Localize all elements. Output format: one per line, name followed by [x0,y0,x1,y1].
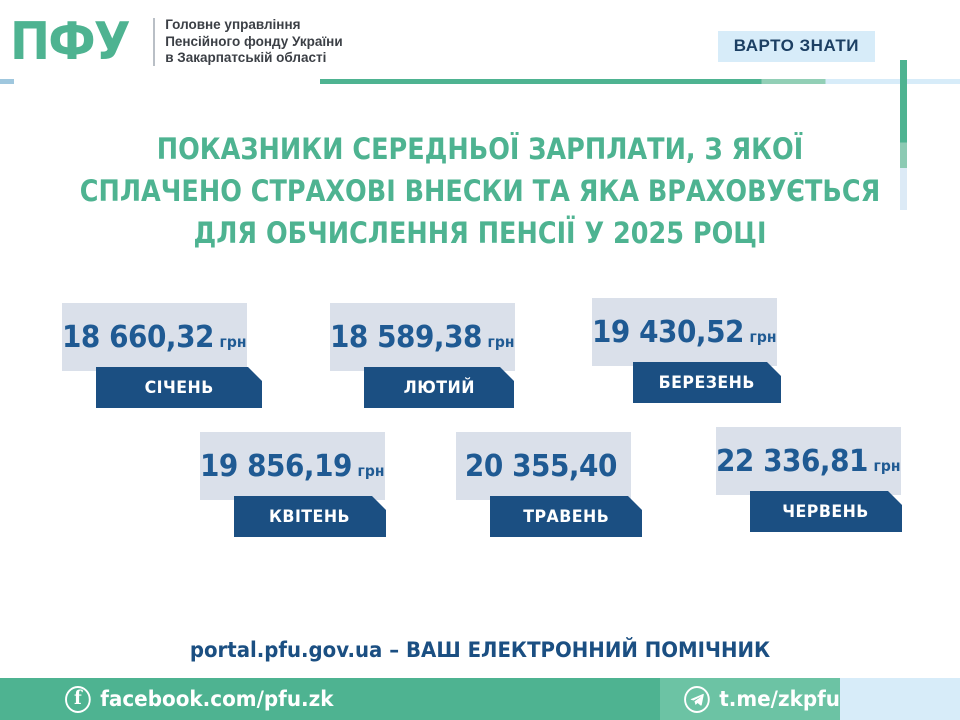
value-amount: 22 336,81 [716,444,868,479]
telegram-icon [684,686,710,713]
portal-tagline: portal.pfu.gov.ua – ВАШ ЕЛЕКТРОННИЙ ПОМІ… [29,638,931,662]
value-box: 18 660,32 грн [62,303,247,371]
month-banner: ЧЕРВЕНЬ [750,491,902,532]
social-bar: f facebook.com/pfu.zk t.me/zkpfu [0,678,960,720]
telegram-label: t.me/zkpfu [719,687,840,711]
month-banner: ТРАВЕНЬ [490,496,642,537]
value-box: 18 589,38 грн [330,303,515,371]
value-currency: грн [358,462,385,480]
salary-card-march: 19 430,52 грн БЕРЕЗЕНЬ [592,298,802,403]
month-label: ЛЮТИЙ [403,378,474,398]
value-currency: грн [220,333,247,351]
social-bar-end-accent [840,678,960,720]
month-banner: СІЧЕНЬ [96,367,262,408]
salary-card-january: 18 660,32 грн СІЧЕНЬ [62,303,262,408]
month-banner: КВІТЕНЬ [234,496,386,537]
value-currency: грн [750,328,777,346]
month-label: КВІТЕНЬ [270,507,351,527]
facebook-icon: f [65,686,91,713]
salary-card-april: 19 856,19 грн КВІТЕНЬ [200,432,400,537]
value-amount: 20 355,40 [465,449,617,484]
month-label: ТРАВЕНЬ [523,507,609,527]
value-box: 19 430,52 грн [592,298,777,366]
value-amount: 18 660,32 [62,320,214,355]
telegram-segment: t.me/zkpfu [660,678,840,720]
salary-card-may: 20 355,40 ТРАВЕНЬ [456,432,656,537]
month-label: СІЧЕНЬ [144,378,213,398]
facebook-link[interactable]: f facebook.com/pfu.zk [65,686,333,713]
month-label: БЕРЕЗЕНЬ [659,373,755,393]
month-banner: БЕРЕЗЕНЬ [633,362,781,403]
value-currency: грн [488,333,515,351]
value-amount: 18 589,38 [330,320,482,355]
value-amount: 19 856,19 [200,449,352,484]
infographic-page: ПФУ Головне управління Пенсійного фонду … [0,0,960,720]
value-amount: 19 430,52 [592,315,744,350]
salary-card-june: 22 336,81 грн ЧЕРВЕНЬ [716,427,916,532]
salary-cards: 18 660,32 грн СІЧЕНЬ 18 589,38 грн ЛЮТИЙ [0,0,960,720]
month-label: ЧЕРВЕНЬ [783,502,870,522]
value-box: 22 336,81 грн [716,427,901,495]
telegram-link[interactable]: t.me/zkpfu [684,686,840,713]
salary-card-february: 18 589,38 грн ЛЮТИЙ [330,303,530,408]
value-box: 19 856,19 грн [200,432,385,500]
facebook-segment: f facebook.com/pfu.zk [0,678,660,720]
value-currency: грн [874,457,901,475]
facebook-label: facebook.com/pfu.zk [100,687,333,711]
value-box: 20 355,40 [456,432,631,500]
month-banner: ЛЮТИЙ [364,367,514,408]
